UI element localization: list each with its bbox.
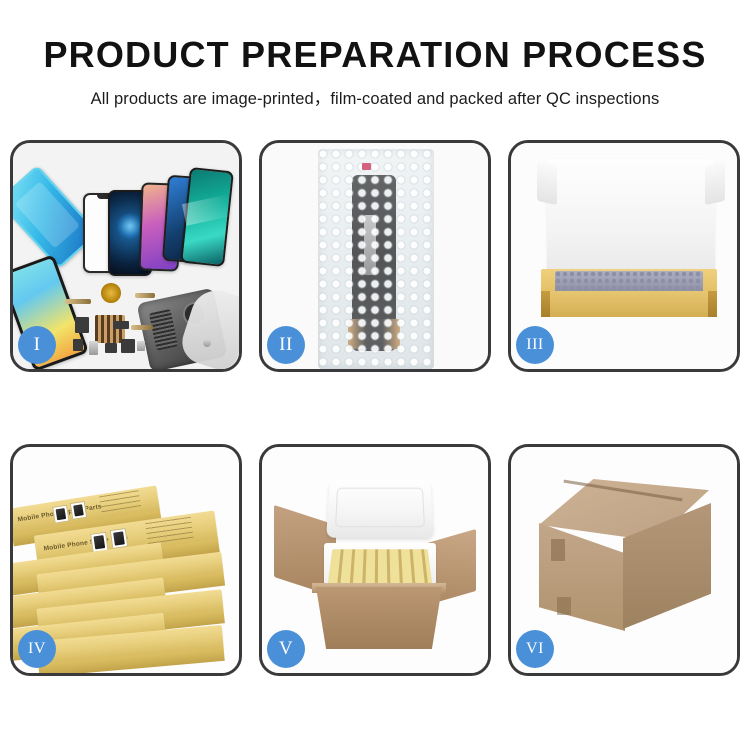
page-subtitle: All products are image-printed，film-coat… [0, 85, 750, 109]
part-speaker [121, 339, 135, 353]
step-badge-3: III [516, 326, 554, 364]
carton-tape-upper [551, 539, 565, 561]
part-flex-cable-2 [135, 293, 155, 298]
product-preparation-infographic: PRODUCT PREPARATION PROCESS All products… [0, 0, 750, 750]
part-copper-coil [101, 283, 121, 303]
carton-tape-lower [557, 597, 571, 615]
process-step-4[interactable]: Mobile Phone Spare Parts Mobile Phone Sp… [10, 444, 242, 676]
pink-qc-sticker [362, 163, 371, 170]
bubble-texture [318, 149, 434, 369]
step-badge-2: II [267, 326, 305, 364]
part-flex-cable-3 [131, 325, 153, 330]
process-step-3[interactable]: III [508, 140, 740, 372]
process-step-2[interactable]: II [259, 140, 491, 372]
part-connector-1 [75, 317, 89, 333]
white-box-lid [547, 159, 715, 275]
step-badge-6: VI [516, 630, 554, 668]
part-screw [203, 339, 211, 347]
step-badge-5: V [267, 630, 305, 668]
styrofoam-lid [326, 480, 434, 538]
part-vibrator [113, 321, 129, 329]
header: PRODUCT PREPARATION PROCESS All products… [0, 0, 750, 109]
step-badge-1: I [18, 326, 56, 364]
part-flex-cable-1 [65, 299, 91, 304]
part-camera-module [105, 343, 117, 353]
page-title: PRODUCT PREPARATION PROCESS [0, 36, 750, 74]
bubble-wrap-bag [318, 149, 434, 369]
part-metal-bracket-2 [137, 341, 145, 351]
gold-box-front-panel [541, 291, 717, 317]
carton-body [316, 587, 442, 649]
part-metal-bracket-1 [89, 341, 98, 355]
process-step-6[interactable]: VI [508, 444, 740, 676]
phone-teal-display [180, 167, 234, 267]
step-badge-4: IV [18, 630, 56, 668]
part-connector-2 [73, 339, 83, 351]
process-step-1[interactable]: I [10, 140, 242, 372]
process-step-5[interactable]: V [259, 444, 491, 676]
gold-boxes-inside [328, 549, 433, 586]
process-step-grid: I II III [10, 140, 740, 676]
